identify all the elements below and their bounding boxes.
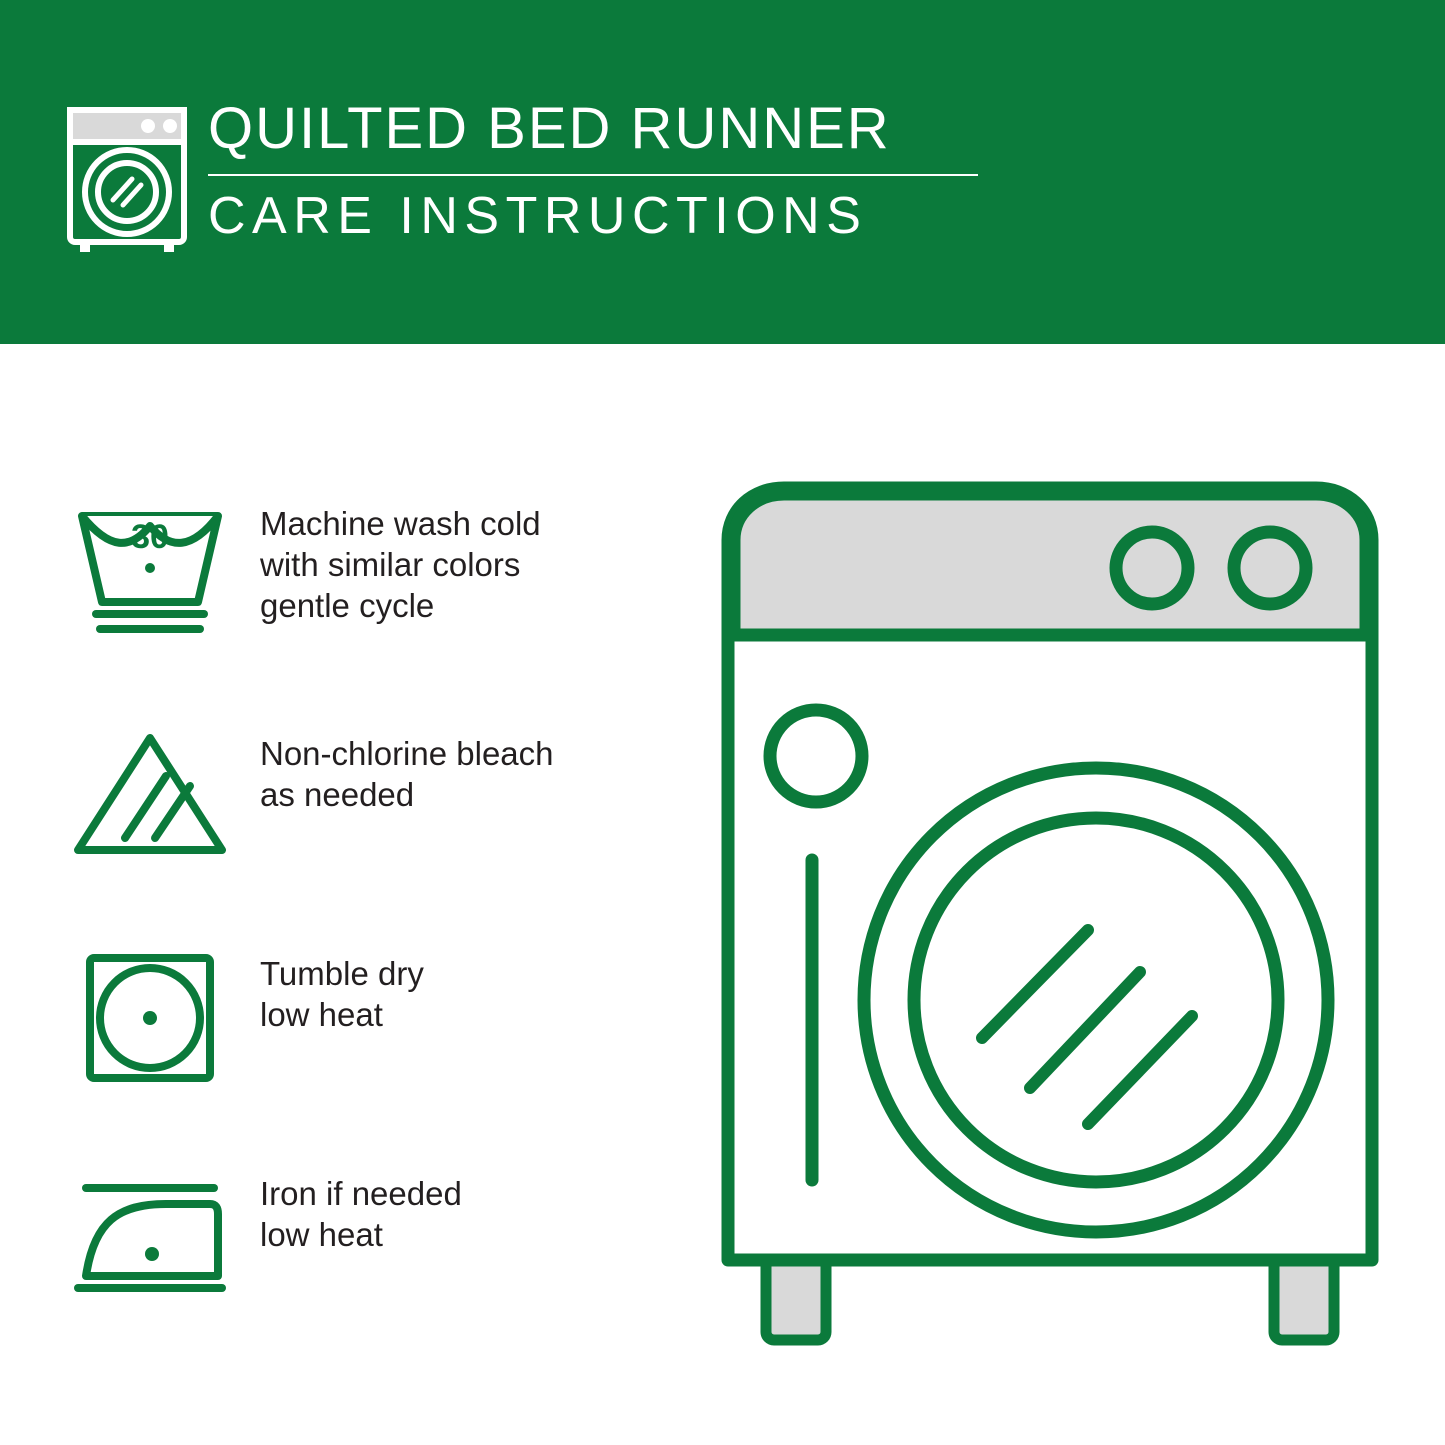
triangle-bleach-icon: [70, 724, 230, 864]
care-row-dry: Tumble dry low heat: [70, 944, 630, 1084]
wash-temperature-value: 30: [131, 518, 169, 556]
washing-machine-icon: [66, 104, 188, 254]
wash-tub-30-icon: 30: [70, 494, 230, 634]
care-label-page: QUILTED BED RUNNER CARE INSTRUCTIONS 30 …: [0, 0, 1445, 1445]
care-row-iron-label: Iron if needed low heat: [260, 1164, 462, 1256]
header-banner: QUILTED BED RUNNER CARE INSTRUCTIONS: [0, 0, 1445, 344]
page-subtitle: CARE INSTRUCTIONS: [208, 190, 1008, 242]
front-load-washing-machine-illustration: [700, 460, 1400, 1360]
iron-low-heat-icon: [70, 1164, 230, 1304]
care-row-bleach: Non-chlorine bleach as needed: [70, 724, 630, 864]
care-row-bleach-label: Non-chlorine bleach as needed: [260, 724, 554, 816]
title-divider: [208, 174, 978, 176]
page-title: QUILTED BED RUNNER: [208, 100, 1008, 158]
care-row-iron: Iron if needed low heat: [70, 1164, 630, 1304]
tumble-dry-low-icon: [70, 944, 230, 1084]
care-row-wash: 30 Machine wash cold with similar colors…: [70, 494, 630, 634]
header-text-block: QUILTED BED RUNNER CARE INSTRUCTIONS: [208, 100, 1008, 242]
care-row-wash-label: Machine wash cold with similar colors ge…: [260, 494, 541, 627]
care-row-dry-label: Tumble dry low heat: [260, 944, 424, 1036]
care-instruction-list: 30 Machine wash cold with similar colors…: [0, 344, 660, 1445]
